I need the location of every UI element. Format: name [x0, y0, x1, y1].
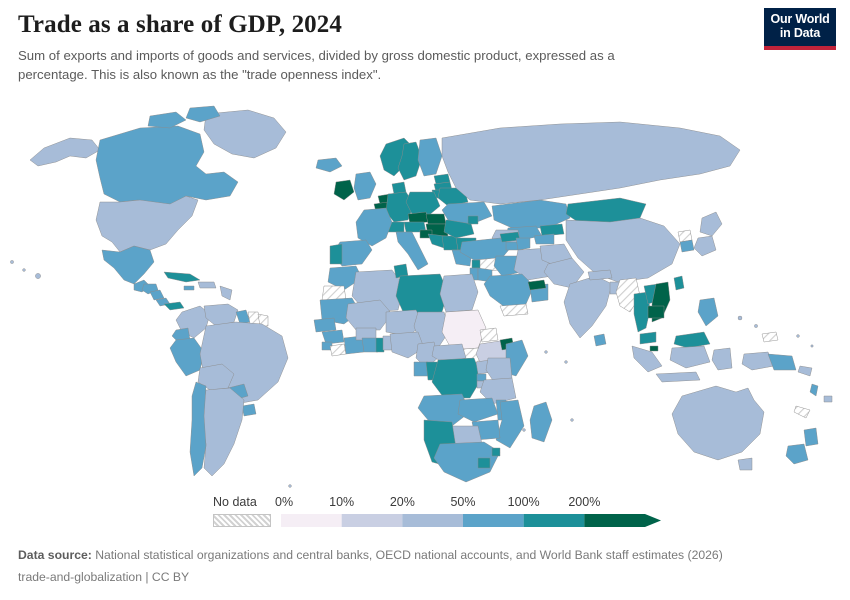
legend-bin[interactable]: 0% to 10%: [281, 514, 342, 527]
country-indonesia-java[interactable]: [656, 372, 700, 382]
country-gabon[interactable]: [414, 362, 428, 376]
data-source-label: Data source:: [18, 548, 92, 562]
island-speck-10: [523, 429, 526, 432]
country-alaska[interactable]: [30, 138, 100, 166]
country-tasmania[interactable]: [738, 458, 752, 470]
country-hispaniola[interactable]: [198, 282, 216, 288]
country-russia[interactable]: [442, 122, 740, 204]
country-iceland[interactable]: [316, 158, 342, 172]
country-serbia[interactable]: [442, 236, 458, 250]
country-madagascar[interactable]: [530, 402, 552, 442]
island-speck-7: [565, 361, 568, 364]
country-new-zealand-north[interactable]: [804, 428, 818, 446]
country-portugal[interactable]: [330, 244, 342, 264]
legend-ramp-svg[interactable]: 0% to 10%10% to 20%20% to 50%50% to 100%…: [281, 514, 661, 527]
country-nicaragua[interactable]: [150, 290, 164, 300]
country-eritrea[interactable]: [480, 328, 498, 342]
country-argentina[interactable]: [202, 388, 244, 476]
country-vanuatu[interactable]: [810, 384, 818, 396]
country-mexico[interactable]: [102, 246, 154, 284]
country-tajikistan[interactable]: [534, 234, 554, 244]
legend-tick-labels: 0%10%20%50%100%200%: [281, 495, 645, 511]
country-malaysia[interactable]: [640, 332, 656, 344]
legend-tick: 50%: [450, 495, 475, 509]
country-philippines[interactable]: [698, 298, 718, 326]
owid-logo-line1: Our World: [770, 13, 829, 27]
country-ireland[interactable]: [334, 180, 354, 200]
island-speck-5: [754, 324, 757, 327]
country-saudi-arabia[interactable]: [484, 274, 534, 308]
legend-no-data-swatch[interactable]: [213, 514, 271, 527]
island-speck-3: [35, 273, 40, 278]
map-legend[interactable]: No data 0%10%20%50%100%200% 0% to 10%10%…: [0, 492, 850, 540]
legend-no-data-label: No data: [213, 495, 257, 509]
country-suriname[interactable]: [248, 312, 260, 324]
country-kazakhstan[interactable]: [492, 200, 570, 228]
choropleth-map[interactable]: [0, 100, 850, 490]
country-japan-2[interactable]: [694, 236, 716, 256]
legend-bin[interactable]: 10% to 20%: [342, 514, 403, 527]
country-sudan[interactable]: [442, 310, 486, 350]
country-lebanon[interactable]: [472, 260, 480, 268]
country-cambodia[interactable]: [648, 306, 664, 318]
owid-logo-line2: in Data: [780, 27, 820, 41]
island-speck-12: [289, 485, 292, 488]
country-japan[interactable]: [700, 212, 722, 236]
country-ghana[interactable]: [362, 338, 378, 352]
country-finland[interactable]: [418, 138, 442, 176]
country-egypt[interactable]: [440, 274, 478, 312]
island-speck-2: [23, 269, 26, 272]
country-lesser-antilles[interactable]: [220, 286, 232, 300]
page-title: Trade as a share of GDP, 2024: [18, 10, 718, 40]
country-singapore[interactable]: [650, 346, 658, 351]
country-united-kingdom[interactable]: [354, 172, 376, 200]
country-australia[interactable]: [672, 386, 764, 460]
country-uae[interactable]: [528, 280, 546, 290]
island-speck-11: [571, 419, 574, 422]
country-south-korea[interactable]: [680, 240, 694, 252]
footer-source-line: Data source: National statistical organi…: [18, 546, 828, 565]
island-speck-6: [545, 351, 548, 354]
country-layer[interactable]: [10, 106, 832, 487]
country-peru[interactable]: [170, 338, 204, 376]
country-papua-new-guinea[interactable]: [768, 354, 796, 370]
country-nepal[interactable]: [588, 270, 612, 280]
country-cuba[interactable]: [164, 272, 200, 282]
country-zambia[interactable]: [458, 398, 498, 422]
country-fiji[interactable]: [824, 396, 832, 402]
country-malaysia-borneo[interactable]: [674, 332, 710, 348]
legend-bin[interactable]: 20% to 50%: [402, 514, 463, 527]
country-indonesia-sulawesi[interactable]: [712, 348, 732, 370]
country-taiwan[interactable]: [674, 276, 684, 290]
legend-bin[interactable]: 100% to 200%: [524, 514, 585, 527]
country-chile[interactable]: [190, 382, 206, 476]
country-new-caledonia[interactable]: [794, 406, 810, 418]
legend-tick: 100%: [508, 495, 540, 509]
country-slovakia[interactable]: [426, 214, 446, 224]
country-india[interactable]: [564, 276, 612, 338]
island-speck-9: [811, 345, 813, 347]
country-azerbaijan[interactable]: [516, 238, 530, 250]
country-lesotho[interactable]: [478, 458, 490, 468]
legend-tick: 10%: [329, 495, 354, 509]
country-indonesia-kalimantan[interactable]: [670, 346, 710, 368]
island-speck-8: [797, 335, 800, 338]
legend-tick: 20%: [390, 495, 415, 509]
legend-bin[interactable]: 50% to 100%: [463, 514, 524, 527]
country-solomon-islands[interactable]: [798, 366, 812, 376]
country-yemen[interactable]: [500, 304, 528, 316]
legend-tick: 200%: [568, 495, 600, 509]
country-moldova[interactable]: [468, 216, 478, 224]
country-western-sahara[interactable]: [322, 286, 346, 300]
chart-subtitle: Sum of exports and imports of goods and …: [18, 47, 683, 84]
legend-tick: 0%: [275, 495, 293, 509]
country-canada-islands[interactable]: [148, 112, 186, 128]
country-drc[interactable]: [432, 358, 482, 398]
chart-header: Trade as a share of GDP, 2024 Sum of exp…: [18, 10, 718, 84]
country-united-states[interactable]: [96, 196, 198, 252]
country-eswatini[interactable]: [492, 448, 500, 456]
owid-logo[interactable]: Our World in Data: [764, 8, 836, 50]
country-new-zealand-south[interactable]: [786, 444, 808, 464]
world-map-svg[interactable]: [0, 100, 850, 490]
data-source-text: National statistical organizations and c…: [95, 548, 723, 562]
footer-license-line[interactable]: trade-and-globalization | CC BY: [18, 568, 828, 587]
chart-footer: Data source: National statistical organi…: [18, 546, 828, 587]
country-micronesia-islands[interactable]: [762, 332, 778, 342]
island-speck-1: [10, 260, 13, 263]
country-armenia[interactable]: [506, 242, 518, 250]
legend-bin[interactable]: 200% and up: [584, 514, 661, 527]
country-sri-lanka[interactable]: [594, 334, 606, 346]
country-jamaica[interactable]: [184, 286, 194, 290]
island-speck-4: [738, 316, 742, 320]
legend-bins[interactable]: 0% to 10%10% to 20%20% to 50%50% to 100%…: [281, 514, 661, 527]
country-senegal[interactable]: [314, 318, 336, 332]
legend-color-ramp[interactable]: 0% to 10%10% to 20%20% to 50%50% to 100%…: [281, 514, 645, 527]
country-uruguay[interactable]: [242, 404, 256, 416]
country-liberia[interactable]: [330, 344, 346, 356]
